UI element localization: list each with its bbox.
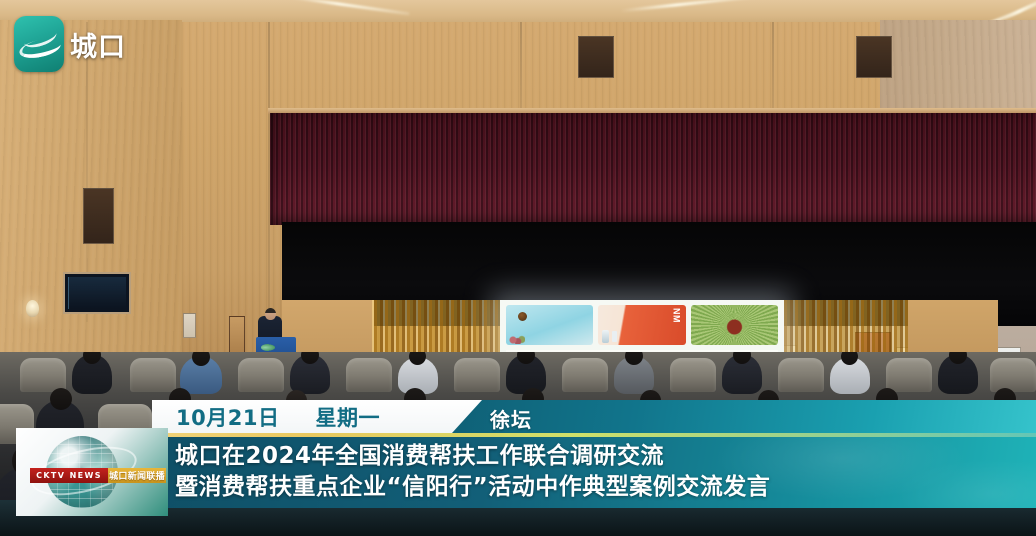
date-band: 10月21日 星期一 (152, 400, 482, 433)
station-name: 城口 (70, 25, 126, 64)
wall-vent (578, 36, 614, 78)
info-strip: 10月21日 星期一 徐坛 (152, 400, 1036, 435)
slide-image-blue-gift-box (506, 305, 593, 345)
headline-line-1: 城口在2024年全国消费帮扶工作联合调研交流 (175, 441, 1036, 472)
cktv-swoosh-logo-icon (14, 16, 64, 72)
cktv-news-text: CKTV NEWS (36, 471, 102, 480)
wall-sign (183, 313, 196, 338)
wall-info-display (63, 272, 131, 314)
wall-seam (520, 22, 522, 114)
wall-vent (856, 36, 892, 78)
broadcast-weekday: 星期一 (315, 402, 380, 432)
lower-third-graphic: 10月21日 星期一 徐坛 城口在2024年全国消费帮扶工作联合调研交流 暨消费… (0, 400, 1036, 536)
program-name-text: 城口新闻联播 (109, 469, 165, 482)
slide-image-row (506, 305, 778, 345)
slide-image-chestnut (691, 305, 778, 345)
headline-banner: 城口在2024年全国消费帮扶工作联合调研交流 暨消费帮扶重点企业“信阳行”活动中… (152, 437, 1036, 508)
broadcast-date: 10月21日 (176, 402, 279, 432)
broadcast-frame: 城口 10月21日 星期一 徐坛 城口在2024年全国消费帮扶工作联合调研交流 … (0, 0, 1036, 536)
location-band (448, 400, 1036, 433)
headline-line-2: 暨消费帮扶重点企业“信阳行”活动中作典型案例交流发言 (175, 472, 1036, 503)
wall-seam (772, 22, 774, 114)
program-name-label: 城口新闻联播 (108, 468, 166, 483)
wall-sconce-light (26, 300, 39, 317)
wall-vent (83, 188, 114, 244)
slide-image-orange-package (598, 305, 685, 345)
stage-valance-curtain (270, 113, 1036, 225)
speaker-head (265, 308, 276, 320)
cktv-news-label: CKTV NEWS (30, 468, 108, 483)
reporter-location: 徐坛 (490, 404, 532, 433)
station-logo-bug: 城口 (14, 16, 126, 72)
news-program-badge: CKTV NEWS 城口新闻联播 (16, 428, 168, 516)
